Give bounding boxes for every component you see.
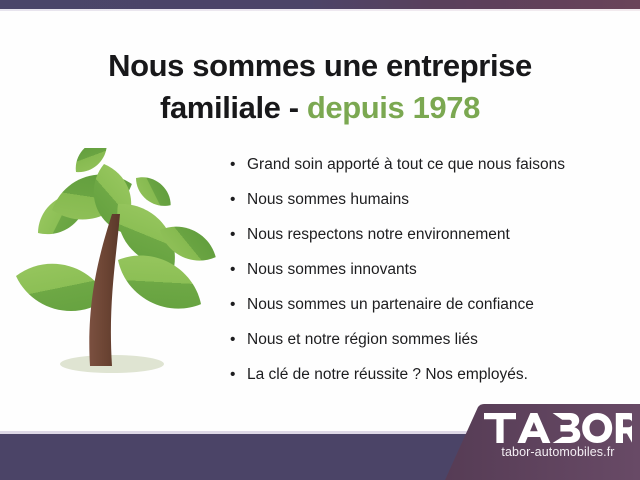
bullet-icon: • — [230, 182, 235, 217]
page-title: Nous sommes une entreprise familiale - d… — [0, 45, 640, 129]
list-item: • Nous sommes humains — [228, 182, 628, 217]
bullet-icon: • — [230, 287, 235, 322]
list-item: • Nous sommes innovants — [228, 252, 628, 287]
list-item-label: La clé de notre réussite ? Nos employés. — [247, 366, 528, 383]
list-item-label: Nous sommes un partenaire de confiance — [247, 296, 534, 313]
top-accent-bar — [0, 0, 640, 9]
top-accent-hairline — [0, 9, 640, 11]
tree-illustration — [8, 148, 224, 388]
tabor-wordmark-logo — [478, 413, 638, 443]
tree-shadow — [60, 355, 164, 373]
list-item: • Grand soin apporté à tout ce que nous … — [228, 147, 628, 182]
tree-trunk — [89, 214, 120, 366]
headline-line-2: familiale - depuis 1978 — [0, 87, 640, 129]
footer-bar — [0, 434, 470, 480]
bullet-icon: • — [230, 357, 235, 392]
bullet-icon: • — [230, 217, 235, 252]
headline-line-2-black: familiale - — [160, 90, 307, 125]
list-item-label: Nous respectons notre environnement — [247, 226, 510, 243]
bullet-icon: • — [230, 252, 235, 287]
bullet-icon: • — [230, 147, 235, 182]
bullet-icon: • — [230, 322, 235, 357]
list-item: • Nous et notre région sommes liés — [228, 322, 628, 357]
brand-website-url: tabor-automobiles.fr — [478, 445, 638, 459]
slide-canvas: Nous sommes une entreprise familiale - d… — [0, 0, 640, 480]
list-item: • Nous respectons notre environnement — [228, 217, 628, 252]
list-item-label: Grand soin apporté à tout ce que nous fa… — [247, 156, 565, 173]
values-list: • Grand soin apporté à tout ce que nous … — [228, 147, 628, 392]
list-item: • Nous sommes un partenaire de confiance — [228, 287, 628, 322]
brand-logo-content: tabor-automobiles.fr — [478, 413, 638, 459]
list-item-label: Nous et notre région sommes liés — [247, 331, 478, 348]
headline-line-1: Nous sommes une entreprise — [108, 48, 532, 83]
brand-logo-panel: tabor-automobiles.fr — [430, 404, 640, 480]
list-item: • La clé de notre réussite ? Nos employé… — [228, 357, 628, 392]
list-item-label: Nous sommes innovants — [247, 261, 417, 278]
headline-highlight-year: depuis 1978 — [307, 90, 480, 125]
list-item-label: Nous sommes humains — [247, 191, 409, 208]
